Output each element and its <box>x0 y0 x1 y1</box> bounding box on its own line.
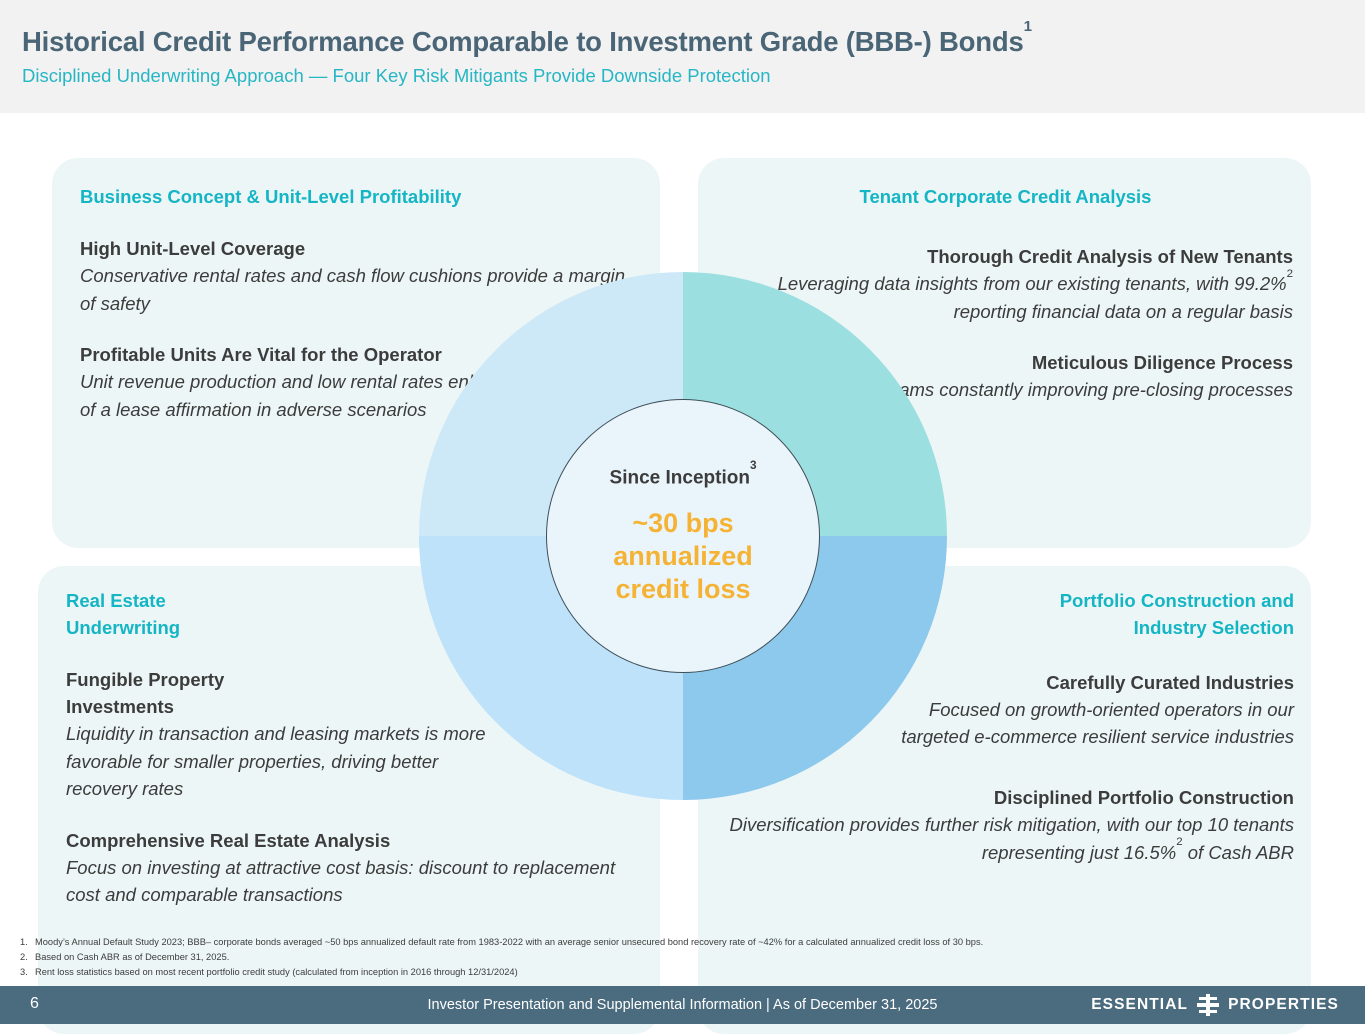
company-logo: ESSENTIAL PROPERTIES <box>1091 994 1339 1016</box>
title-footnote-marker: 1 <box>1024 18 1032 35</box>
page-title: Historical Credit Performance Comparable… <box>22 26 1365 58</box>
footnote-item: 1.Moody’s Annual Default Study 2023; BBB… <box>20 935 1340 950</box>
block-body: Focus on investing at attractive cost ba… <box>66 854 636 909</box>
slide-body: Business Concept & Unit-Level Profitabil… <box>0 113 1365 925</box>
hub-label-text: Since Inception <box>610 467 750 488</box>
footnotes-list: 1.Moody’s Annual Default Study 2023; BBB… <box>20 935 1340 980</box>
block-body-post: reporting financial data on a regular ba… <box>954 301 1293 322</box>
logo-word-properties: PROPERTIES <box>1228 996 1339 1014</box>
block-title: High Unit-Level Coverage <box>80 235 640 262</box>
hub-stat-line-3: credit loss <box>613 573 753 606</box>
footnote-text: Rent loss statistics based on most recen… <box>35 967 518 977</box>
block-footnote-marker: 2 <box>1287 268 1293 280</box>
hub-label: Since Inception3 <box>610 466 757 489</box>
hub-stat-line-2: annualized <box>613 540 753 573</box>
footnote-item: 3.Rent loss statistics based on most rec… <box>20 965 1340 980</box>
hub-statistic: ~30 bps annualized credit loss <box>613 507 753 606</box>
card-real-estate-underwriting-heading: Real Estate Underwriting <box>66 588 266 642</box>
footnote-number: 1. <box>20 935 35 950</box>
hub-footnote-marker: 3 <box>750 459 757 472</box>
hub-stat-line-1: ~30 bps <box>613 507 753 540</box>
slide-header: Historical Credit Performance Comparable… <box>0 0 1365 113</box>
block-body: Diversification provides further risk mi… <box>716 811 1294 866</box>
footnote-text: Moody’s Annual Default Study 2023; BBB– … <box>35 937 983 947</box>
card-business-concept-heading: Business Concept & Unit-Level Profitabil… <box>80 184 640 211</box>
page-title-text: Historical Credit Performance Comparable… <box>22 26 1024 57</box>
footnote-number: 3. <box>20 965 35 980</box>
slide-footer: 6 Investor Presentation and Supplemental… <box>0 986 1365 1024</box>
footnote-text: Based on Cash ABR as of December 31, 202… <box>35 952 229 962</box>
block-title: Comprehensive Real Estate Analysis <box>66 827 656 854</box>
logo-word-essential: ESSENTIAL <box>1091 996 1188 1014</box>
block-title: Thorough Credit Analysis of New Tenants <box>718 243 1293 270</box>
page-subtitle: Disciplined Underwriting Approach — Four… <box>22 65 1365 87</box>
center-hub-callout: Since Inception3 ~30 bps annualized cred… <box>546 399 820 673</box>
block-footnote-marker: 2 <box>1176 836 1182 848</box>
block-comprehensive-real-estate: Comprehensive Real Estate Analysis Focus… <box>66 827 656 909</box>
footnote-item: 2.Based on Cash ABR as of December 31, 2… <box>20 950 1340 965</box>
card-portfolio-construction-heading: Portfolio Construction and Industry Sele… <box>1004 588 1294 642</box>
essential-properties-logo-icon <box>1197 994 1219 1016</box>
card-tenant-credit-analysis-heading: Tenant Corporate Credit Analysis <box>718 184 1293 211</box>
block-title: Fungible Property Investments <box>66 666 296 721</box>
block-body-post: of Cash ABR <box>1183 842 1294 863</box>
footnote-number: 2. <box>20 950 35 965</box>
